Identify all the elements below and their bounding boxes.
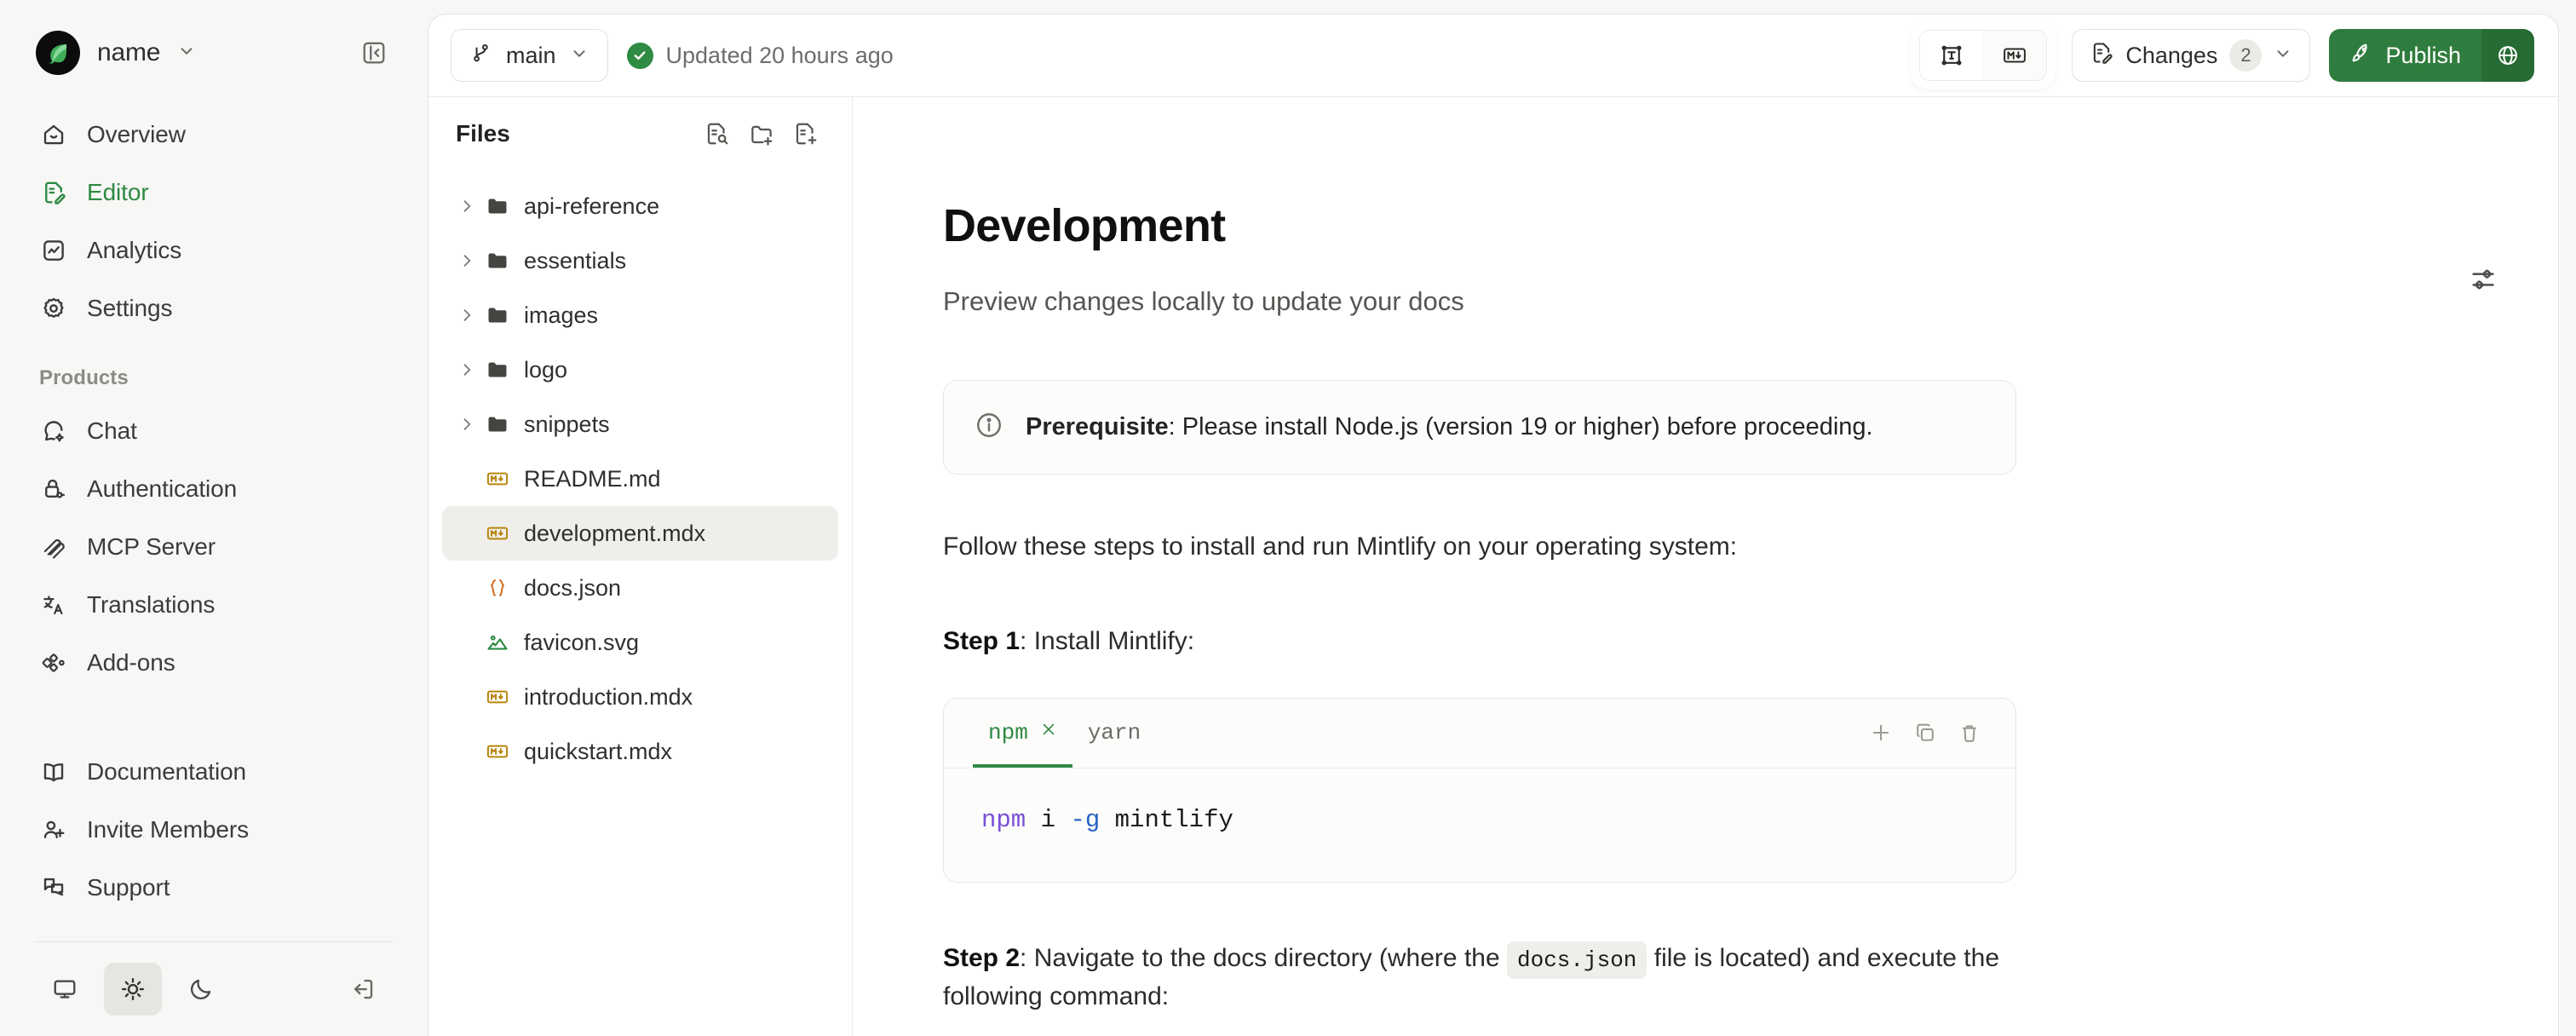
file-tree: api-reference essentials images logo bbox=[428, 170, 852, 1036]
chevron-down-icon bbox=[570, 44, 589, 67]
sidebar-item-label: Chat bbox=[87, 417, 137, 445]
publish-label: Publish bbox=[2385, 43, 2461, 69]
chevron-right-icon[interactable] bbox=[454, 307, 480, 324]
code-content[interactable]: npm i -g mintlify bbox=[944, 768, 2015, 882]
folder-icon bbox=[480, 358, 515, 382]
sidebar-item-label: Settings bbox=[87, 295, 172, 322]
markdown-icon bbox=[480, 521, 515, 545]
code-token-args2: mintlify bbox=[1100, 806, 1233, 834]
sidebar-group-products: Products bbox=[31, 366, 397, 390]
leaf-logo-icon bbox=[36, 31, 80, 75]
sidebar-item-label: Overview bbox=[87, 121, 186, 148]
sidebar-item-mcp-server[interactable]: MCP Server bbox=[31, 518, 397, 576]
light-theme-button[interactable] bbox=[104, 963, 162, 1016]
sidebar-item-label: Analytics bbox=[87, 237, 181, 264]
mcp-stack-icon bbox=[39, 532, 68, 561]
translate-icon bbox=[39, 590, 68, 619]
sidebar-item-label: Editor bbox=[87, 179, 149, 206]
new-folder-button[interactable] bbox=[739, 112, 784, 156]
dark-theme-button[interactable] bbox=[172, 963, 230, 1016]
close-icon[interactable] bbox=[1040, 721, 1057, 745]
intro-paragraph[interactable]: Follow these steps to install and run Mi… bbox=[943, 527, 2016, 566]
sidebar-item-label: Translations bbox=[87, 591, 215, 619]
main-area: main Updated 20 hours ago bbox=[428, 0, 2576, 1036]
changes-label: Changes bbox=[2125, 43, 2217, 69]
changes-button[interactable]: Changes 2 bbox=[2072, 29, 2310, 82]
markdown-icon bbox=[480, 685, 515, 709]
chat-sparkle-icon bbox=[39, 417, 68, 446]
editor-toolbar: main Updated 20 hours ago bbox=[428, 14, 2558, 96]
editor-mode-switch bbox=[1913, 24, 2053, 87]
file-tree-folder[interactable]: logo bbox=[442, 342, 838, 397]
file-tree-label: introduction.mdx bbox=[524, 684, 693, 711]
file-tree-file[interactable]: favicon.svg bbox=[442, 615, 838, 670]
step1-bold: Step 1 bbox=[943, 627, 1020, 655]
code-tabs: npm yarn bbox=[944, 699, 2015, 768]
code-token-args1: i bbox=[1026, 806, 1070, 834]
file-tree-folder[interactable]: snippets bbox=[442, 397, 838, 452]
sidebar-filler bbox=[31, 917, 397, 935]
collapse-sidebar-button[interactable] bbox=[356, 35, 392, 71]
file-tree-file[interactable]: introduction.mdx bbox=[442, 670, 838, 724]
file-tree-label: images bbox=[524, 302, 598, 329]
json-braces-icon bbox=[480, 576, 515, 600]
inline-code-docs-json: docs.json bbox=[1507, 941, 1647, 979]
branch-selector[interactable]: main bbox=[451, 29, 608, 82]
page-settings-button[interactable] bbox=[2463, 259, 2504, 300]
sidebar-item-label: Documentation bbox=[87, 758, 246, 786]
code-token-command: npm bbox=[981, 806, 1026, 834]
markdown-icon bbox=[480, 740, 515, 763]
editor-panel: main Updated 20 hours ago bbox=[428, 14, 2559, 1036]
secondary-nav: Documentation Invite Members Support bbox=[31, 743, 397, 917]
copy-code-button[interactable] bbox=[1903, 711, 1947, 755]
file-tree-file[interactable]: README.md bbox=[442, 452, 838, 506]
new-file-button[interactable] bbox=[784, 112, 828, 156]
prerequisite-callout: Prerequisite: Please install Node.js (ve… bbox=[943, 380, 2016, 475]
chevron-down-icon bbox=[2274, 43, 2292, 69]
publish-globe-button[interactable] bbox=[2481, 29, 2534, 82]
addons-diamond-icon bbox=[39, 648, 68, 677]
step1-paragraph[interactable]: Step 1: Install Mintlify: bbox=[943, 622, 2016, 660]
code-tab-npm[interactable]: npm bbox=[973, 699, 1072, 768]
folder-icon bbox=[480, 249, 515, 273]
chat-support-icon bbox=[39, 873, 68, 902]
sidebar-footer bbox=[31, 942, 397, 1036]
callout-bold: Prerequisite bbox=[1026, 413, 1169, 440]
delete-code-button[interactable] bbox=[1947, 711, 1992, 755]
sidebar-item-label: Authentication bbox=[87, 475, 237, 503]
file-tree-file-selected[interactable]: development.mdx bbox=[442, 506, 838, 561]
sidebar-item-settings[interactable]: Settings bbox=[31, 279, 397, 337]
file-tree-label: essentials bbox=[524, 248, 626, 274]
chevron-right-icon[interactable] bbox=[454, 198, 480, 215]
editor-body: Files api-reference bbox=[428, 96, 2558, 1036]
sidebar-item-add-ons[interactable]: Add-ons bbox=[31, 634, 397, 692]
folder-icon bbox=[480, 303, 515, 327]
gear-icon bbox=[39, 294, 68, 323]
sidebar-item-label: Support bbox=[87, 874, 170, 901]
step2-paragraph[interactable]: Step 2: Navigate to the docs directory (… bbox=[943, 939, 2016, 1016]
chevron-down-icon bbox=[177, 42, 196, 65]
branch-name: main bbox=[506, 43, 556, 69]
sidebar-item-editor[interactable]: Editor bbox=[31, 164, 397, 222]
file-tree-folder[interactable]: images bbox=[442, 288, 838, 342]
page-title[interactable]: Development bbox=[943, 199, 2016, 252]
sidebar-item-documentation[interactable]: Documentation bbox=[31, 743, 397, 801]
lock-key-icon bbox=[39, 475, 68, 504]
file-tree-label: development.mdx bbox=[524, 521, 705, 547]
chevron-right-icon[interactable] bbox=[454, 252, 480, 269]
sidebar-item-support[interactable]: Support bbox=[31, 859, 397, 917]
file-tree-file[interactable]: quickstart.mdx bbox=[442, 724, 838, 779]
code-tab-label: npm bbox=[988, 720, 1028, 745]
code-tab-label: yarn bbox=[1088, 720, 1141, 745]
publish-main[interactable]: Publish bbox=[2329, 29, 2481, 82]
document-content: Development Preview changes locally to u… bbox=[853, 199, 2079, 1016]
org-name: name bbox=[97, 38, 160, 67]
primary-nav: Overview Editor Analytics Settings bbox=[31, 106, 397, 337]
page-subtitle[interactable]: Preview changes locally to update your d… bbox=[943, 286, 2016, 317]
file-edit-icon bbox=[39, 178, 68, 207]
chevron-right-icon[interactable] bbox=[454, 416, 480, 433]
folder-icon bbox=[480, 194, 515, 218]
info-circle-icon bbox=[975, 411, 1003, 444]
analytics-icon bbox=[39, 236, 68, 265]
file-tree-label: quickstart.mdx bbox=[524, 739, 672, 765]
step2-text-before: : Navigate to the docs directory (where … bbox=[1020, 944, 1507, 972]
files-header: Files bbox=[428, 97, 852, 170]
files-title: Files bbox=[456, 120, 510, 147]
sidebar-item-label: Invite Members bbox=[87, 816, 249, 843]
file-tree-file[interactable]: docs.json bbox=[442, 561, 838, 615]
sidebar-item-label: Add-ons bbox=[87, 649, 175, 676]
sidebar-item-authentication[interactable]: Authentication bbox=[31, 460, 397, 518]
callout-text: Prerequisite: Please install Node.js (ve… bbox=[1026, 410, 1873, 445]
publish-button[interactable]: Publish bbox=[2329, 29, 2534, 82]
sidebar-item-chat[interactable]: Chat bbox=[31, 402, 397, 460]
update-status: Updated 20 hours ago bbox=[627, 43, 894, 69]
changes-count-badge: 2 bbox=[2229, 39, 2262, 72]
file-tree-label: api-reference bbox=[524, 193, 659, 220]
sidebar-item-overview[interactable]: Overview bbox=[31, 106, 397, 164]
home-icon bbox=[39, 120, 68, 149]
system-theme-button[interactable] bbox=[36, 963, 94, 1016]
file-tree-folder[interactable]: api-reference bbox=[442, 179, 838, 233]
markdown-editor-toggle[interactable] bbox=[1983, 31, 2046, 80]
step1-text: : Install Mintlify: bbox=[1020, 627, 1194, 655]
files-panel: Files api-reference bbox=[428, 97, 853, 1036]
callout-rest: : Please install Node.js (version 19 or … bbox=[1169, 413, 1873, 440]
file-tree-label: snippets bbox=[524, 412, 610, 438]
logout-button[interactable] bbox=[334, 963, 392, 1016]
sidebar-item-label: MCP Server bbox=[87, 533, 216, 561]
file-tree-label: favicon.svg bbox=[524, 630, 639, 656]
org-switcher[interactable]: name bbox=[36, 31, 196, 75]
code-token-flag: -g bbox=[1070, 806, 1100, 834]
sidebar-item-translations[interactable]: Translations bbox=[31, 576, 397, 634]
sidebar-item-analytics[interactable]: Analytics bbox=[31, 222, 397, 279]
update-status-text: Updated 20 hours ago bbox=[666, 43, 894, 69]
file-tree-label: logo bbox=[524, 357, 567, 383]
file-edit-icon bbox=[2090, 41, 2113, 71]
add-tab-button[interactable] bbox=[1859, 711, 1903, 755]
check-circle-icon bbox=[627, 43, 653, 69]
chevron-right-icon[interactable] bbox=[454, 361, 480, 378]
git-branch-icon bbox=[470, 43, 492, 69]
sidebar: name Overview Editor bbox=[0, 0, 428, 1036]
products-nav: Chat Authentication MCP Server Translati… bbox=[31, 402, 397, 692]
book-icon bbox=[39, 757, 68, 786]
visual-editor-toggle[interactable] bbox=[1920, 31, 1983, 80]
folder-icon bbox=[480, 412, 515, 436]
file-tree-folder[interactable]: essentials bbox=[442, 233, 838, 288]
document-editor[interactable]: Development Preview changes locally to u… bbox=[853, 97, 2558, 1036]
file-tree-label: README.md bbox=[524, 466, 661, 492]
code-block: npm yarn bbox=[943, 698, 2016, 883]
sidebar-header: name bbox=[31, 0, 397, 106]
search-file-button[interactable] bbox=[695, 112, 739, 156]
file-tree-label: docs.json bbox=[524, 575, 621, 601]
image-icon bbox=[480, 630, 515, 654]
user-plus-icon bbox=[39, 815, 68, 844]
sidebar-item-invite-members[interactable]: Invite Members bbox=[31, 801, 397, 859]
rocket-icon bbox=[2349, 41, 2373, 71]
step2-bold: Step 2 bbox=[943, 944, 1020, 972]
code-tab-yarn[interactable]: yarn bbox=[1072, 699, 1156, 768]
nav-spacer bbox=[31, 692, 397, 743]
markdown-icon bbox=[480, 467, 515, 491]
